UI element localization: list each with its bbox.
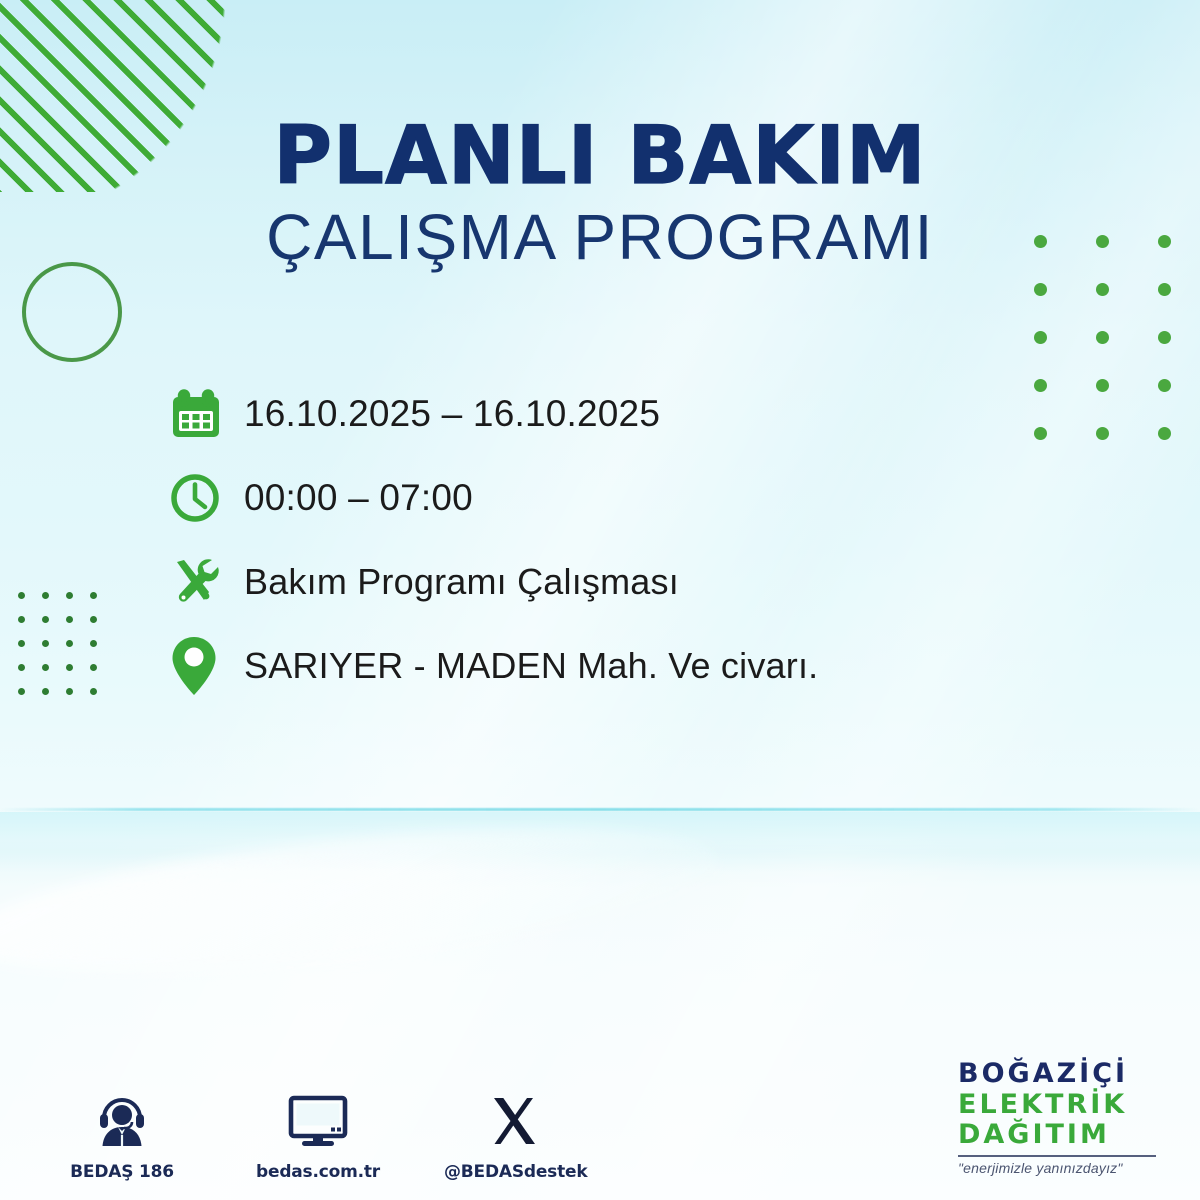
detail-row-location: SARIYER - MADEN Mah. Ve civarı. [168, 624, 1048, 708]
contact-call-center-label: BEDAŞ 186 [52, 1162, 192, 1182]
map-pin-icon [168, 634, 244, 698]
monitor-icon [248, 1088, 388, 1150]
brand-line-elektrik: ELEKTRİK [958, 1090, 1178, 1120]
clock-icon [168, 471, 244, 525]
detail-row-work-type: Bakım Programı Çalışması [168, 540, 1048, 624]
outage-details-list: 16.10.2025 – 16.10.2025 00:00 – 07:00 [168, 372, 1048, 708]
brand-divider [958, 1155, 1156, 1157]
detail-row-date: 16.10.2025 – 16.10.2025 [168, 372, 1048, 456]
left-dot-grid-decoration [18, 592, 114, 712]
contact-call-center[interactable]: BEDAŞ 186 [52, 1088, 192, 1182]
detail-row-time: 00:00 – 07:00 [168, 456, 1048, 540]
contact-x-label: @BEDASdestek [444, 1162, 584, 1182]
calendar-icon [168, 386, 244, 442]
headset-support-icon [52, 1088, 192, 1150]
planned-maintenance-poster: PLANLI BAKIM ÇALIŞMA PROGRAMI [0, 0, 1200, 1200]
detail-value-location: SARIYER - MADEN Mah. Ve civarı. [244, 645, 818, 687]
contact-x-account[interactable]: @BEDASdestek [444, 1088, 584, 1182]
circle-outline-decoration [22, 262, 122, 362]
x-twitter-icon [444, 1088, 584, 1150]
contact-website-label: bedas.com.tr [248, 1162, 388, 1182]
background-horizon-line [0, 808, 1200, 811]
detail-value-time: 00:00 – 07:00 [244, 477, 473, 519]
brand-line-bogazici: BOĞAZİÇİ [958, 1059, 1178, 1089]
brand-line-dagitim: DAĞITIM [958, 1120, 1178, 1150]
brand-logo: BOĞAZİÇİ ELEKTRİK DAĞITIM "enerjimizle y… [958, 1059, 1178, 1176]
title-secondary: ÇALIŞMA PROGRAMI [0, 204, 1200, 271]
page-title: PLANLI BAKIM ÇALIŞMA PROGRAMI [0, 116, 1200, 271]
footer-contacts: BEDAŞ 186 bedas.com.tr @B [52, 1088, 584, 1182]
detail-value-date: 16.10.2025 – 16.10.2025 [244, 393, 660, 435]
title-primary: PLANLI BAKIM [0, 116, 1200, 196]
contact-website[interactable]: bedas.com.tr [248, 1088, 388, 1182]
brand-tagline: "enerjimizle yanınızdayız" [958, 1160, 1178, 1176]
tools-icon [168, 554, 244, 610]
detail-value-work-type: Bakım Programı Çalışması [244, 561, 679, 603]
